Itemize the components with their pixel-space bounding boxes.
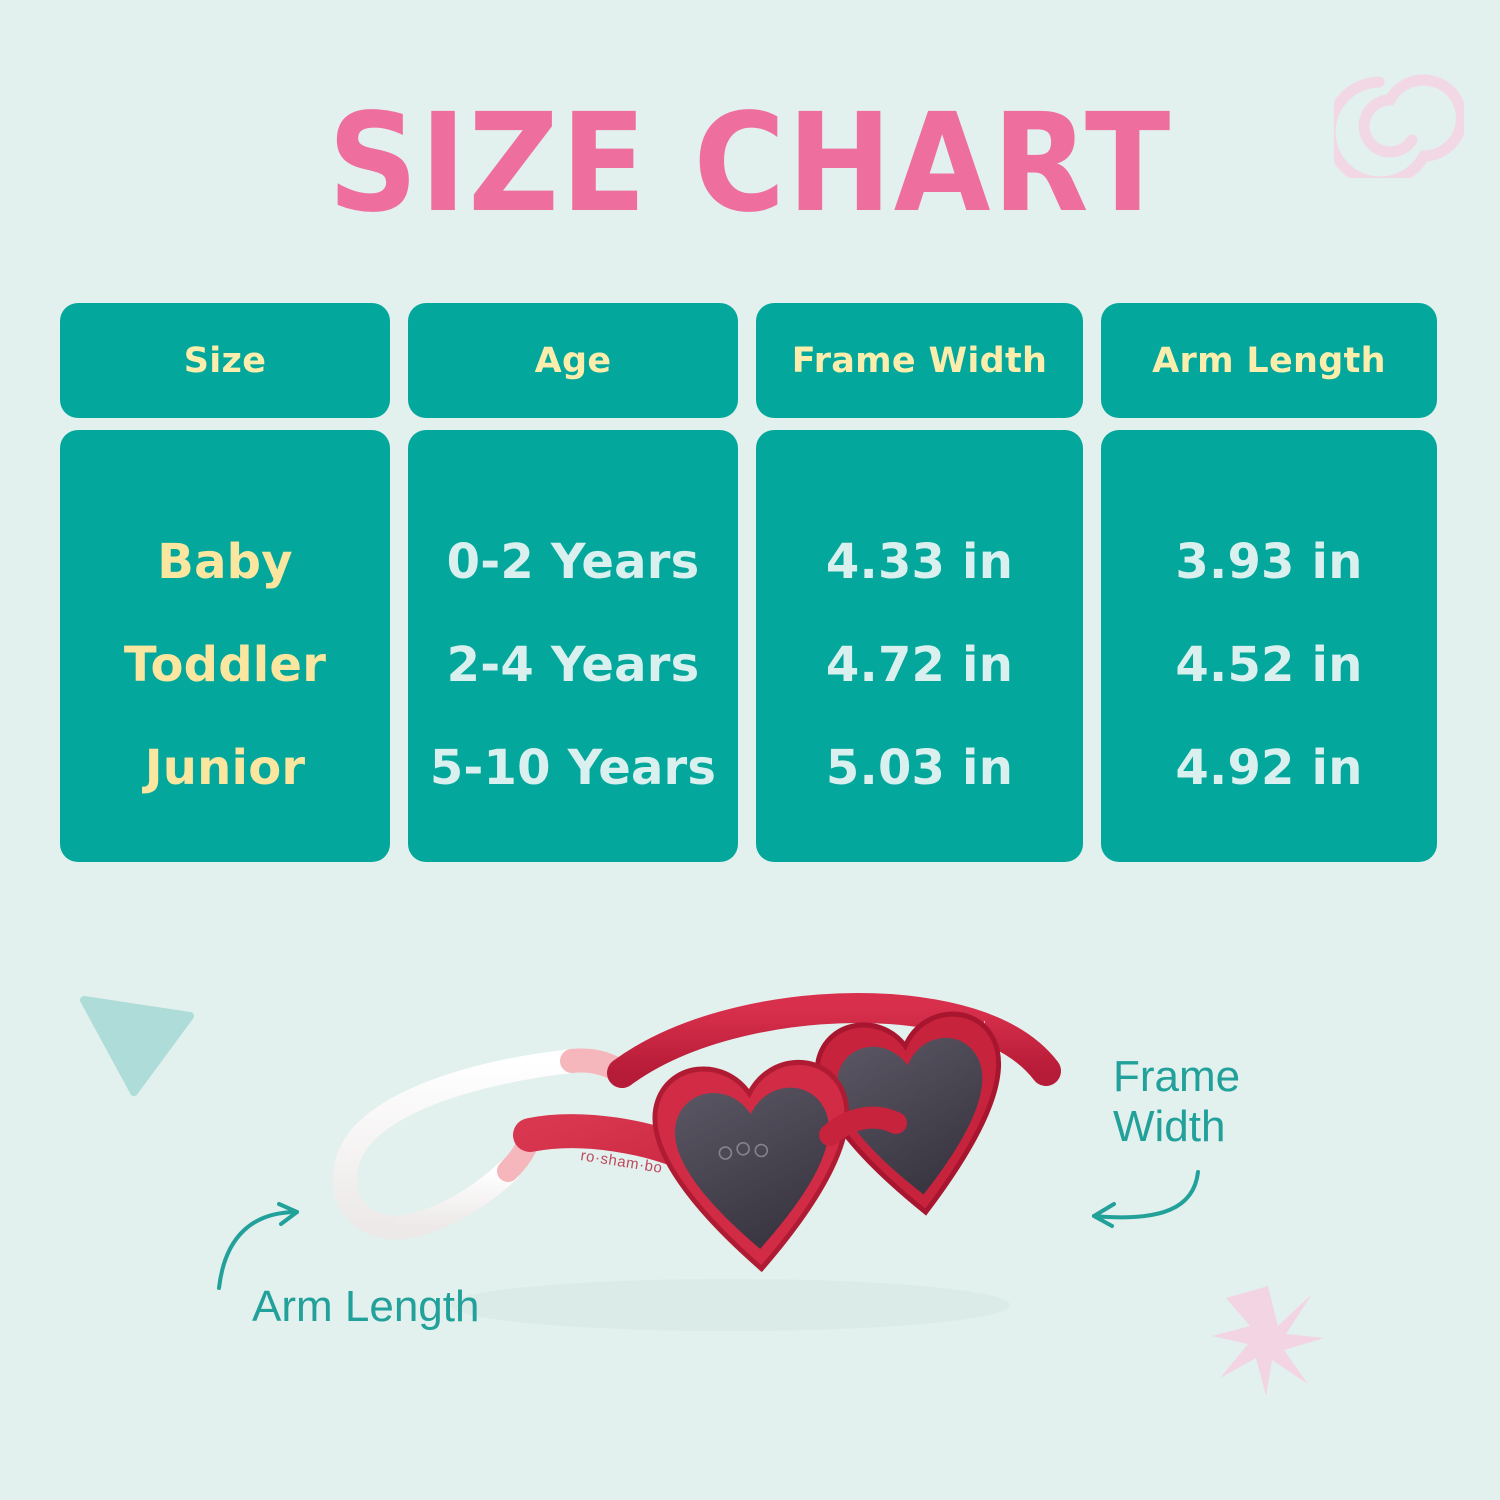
- triangle-decoration-icon: [78, 988, 198, 1098]
- table-body-row: Baby Toddler Junior 0-2 Years 2-4 Years …: [60, 430, 1437, 862]
- table-cell: 3.93 in: [1101, 510, 1437, 613]
- table-column-arm-length: 3.93 in 4.52 in 4.92 in: [1101, 430, 1437, 862]
- table-header-cell-arm-length: Arm Length: [1101, 303, 1437, 418]
- table-cell: Baby: [60, 510, 390, 613]
- table-header-label: Size: [184, 341, 267, 381]
- table-cell: 5-10 Years: [408, 716, 738, 819]
- table-column-age: 0-2 Years 2-4 Years 5-10 Years: [408, 430, 738, 862]
- table-cell: 4.52 in: [1101, 613, 1437, 716]
- size-chart-table: Size Age Frame Width Arm Length Baby Tod…: [60, 303, 1437, 862]
- table-header-row: Size Age Frame Width Arm Length: [60, 303, 1437, 418]
- table-header-cell-size: Size: [60, 303, 390, 418]
- table-header-cell-age: Age: [408, 303, 738, 418]
- table-cell: 0-2 Years: [408, 510, 738, 613]
- table-cell: 4.72 in: [756, 613, 1083, 716]
- size-chart-page: SIZE CHART Size Age Frame Width Arm Leng…: [0, 0, 1500, 1500]
- table-cell: Junior: [60, 716, 390, 819]
- frame-width-arrow-icon: [1070, 1160, 1220, 1250]
- table-header-cell-frame-width: Frame Width: [756, 303, 1083, 418]
- table-header-label: Frame Width: [792, 341, 1048, 381]
- annotation-frame-width-label: Frame Width: [1113, 1052, 1240, 1152]
- table-cell: 5.03 in: [756, 716, 1083, 819]
- table-cell: 2-4 Years: [408, 613, 738, 716]
- arm-length-arrow-icon: [215, 1198, 335, 1298]
- page-title: SIZE CHART: [60, 96, 1440, 232]
- table-header-label: Arm Length: [1152, 341, 1386, 381]
- table-cell: Toddler: [60, 613, 390, 716]
- table-column-frame-width: 4.33 in 4.72 in 5.03 in: [756, 430, 1083, 862]
- table-cell: 4.33 in: [756, 510, 1083, 613]
- table-column-size: Baby Toddler Junior: [60, 430, 390, 862]
- table-cell: 4.92 in: [1101, 716, 1437, 819]
- sparkle-decoration-icon: [1208, 1280, 1328, 1400]
- table-header-label: Age: [535, 341, 612, 381]
